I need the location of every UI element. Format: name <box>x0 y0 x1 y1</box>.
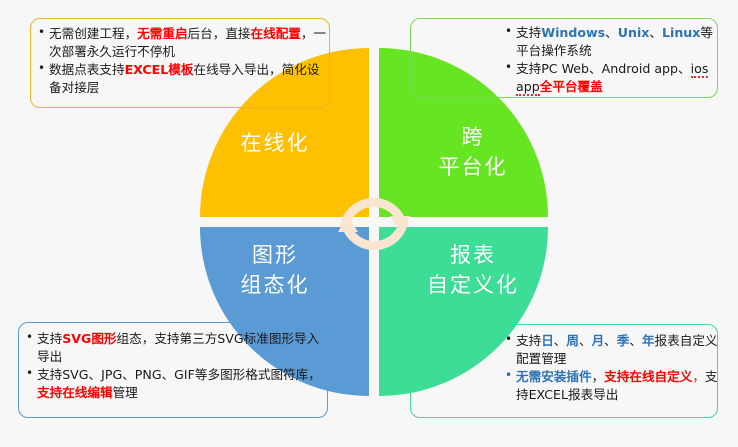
text-run: 支持 <box>37 331 62 346</box>
text-run: 年 <box>642 333 655 348</box>
text-run: 无需安装插件 <box>516 369 592 384</box>
bullet-item: 支持日、周、月、季、年报表自定义配置管理 <box>505 332 723 367</box>
bullet-item: 无需安装插件，支持在线自定义，支持EXCEL报表导出 <box>505 368 723 403</box>
text-run: 、 <box>629 333 642 348</box>
callout-list-bottom-right: 支持日、周、月、季、年报表自定义配置管理无需安装插件，支持在线自定义，支持EXC… <box>505 332 723 404</box>
bullet-item: 支持SVG图形组态，支持第三方SVG标准图形导入导出 <box>26 330 326 365</box>
text-run: 、 <box>605 25 618 40</box>
text-run: 支持 <box>516 25 541 40</box>
text-run: 支持PC Web、Android app、 <box>516 61 691 76</box>
text-run: 、 <box>554 333 567 348</box>
quadrant-label-report: 报表 自定义化 <box>398 240 548 300</box>
text-run: Windows <box>541 25 605 40</box>
text-run: 无需重启 <box>137 26 187 41</box>
text-run: SVG图形 <box>62 331 116 346</box>
bullet-item: 支持PC Web、Android app、ios app全平台覆盖 <box>505 60 720 95</box>
text-run: Unix <box>618 25 650 40</box>
refresh-arrows-svg <box>332 182 416 266</box>
text-run: 支持在线编辑 <box>37 385 113 400</box>
text-run: 支持在线自定义 <box>604 369 692 384</box>
text-run: 无需创建工程， <box>49 26 137 41</box>
quadrant-label-graphics: 图形 组态化 <box>200 240 350 300</box>
text-run: ， <box>592 369 605 384</box>
text-run: 全平台覆盖 <box>540 79 603 94</box>
text-run: Linux <box>662 25 700 40</box>
text-run: 在线配置 <box>251 26 301 41</box>
text-run: 、 <box>604 333 617 348</box>
quadrant-label-cross-platform: 跨 平台化 <box>398 122 548 182</box>
diagram-canvas: 在线化 跨 平台化 图形 组态化 报表 自定义化 无需创建工程，无需重启后台，直… <box>0 0 738 447</box>
text-run: 季 <box>617 333 630 348</box>
text-run: 管理 <box>113 385 138 400</box>
callout-list-top-right: 支持Windows、Unix、Linux等平台操作系统支持PC Web、Andr… <box>505 24 720 96</box>
text-run: ， <box>692 369 705 384</box>
text-run: 、 <box>579 333 592 348</box>
text-run: 直接 <box>225 26 250 41</box>
text-run: 、 <box>649 25 662 40</box>
bullet-item: 支持SVG、JPG、PNG、GIF等多图形格式图符库，支持在线编辑管理 <box>26 366 326 401</box>
text-run: 数据点表支持 <box>49 62 125 77</box>
text-run: 支持 <box>516 333 541 348</box>
bullet-item: 无需创建工程，无需重启后台，直接在线配置，一次部署永久运行不停机 <box>38 25 328 60</box>
text-run: 月 <box>592 333 605 348</box>
bullet-item: 数据点表支持EXCEL模板在线导入导出，简化设备对接层 <box>38 61 328 96</box>
bullet-item: 支持Windows、Unix、Linux等平台操作系统 <box>505 24 720 59</box>
callout-list-top-left: 无需创建工程，无需重启后台，直接在线配置，一次部署永久运行不停机数据点表支持EX… <box>38 25 328 97</box>
text-run: 日 <box>541 333 554 348</box>
text-run: 后台， <box>188 26 226 41</box>
text-run: EXCEL模板 <box>125 62 194 77</box>
text-run: 支持SVG、JPG、PNG、GIF等多图形格式图符库， <box>37 367 321 382</box>
circular-refresh-arrows-icon <box>332 182 416 266</box>
text-run: 周 <box>566 333 579 348</box>
quadrant-label-online: 在线化 <box>200 128 350 158</box>
callout-list-bottom-left: 支持SVG图形组态，支持第三方SVG标准图形导入导出支持SVG、JPG、PNG、… <box>26 330 326 402</box>
